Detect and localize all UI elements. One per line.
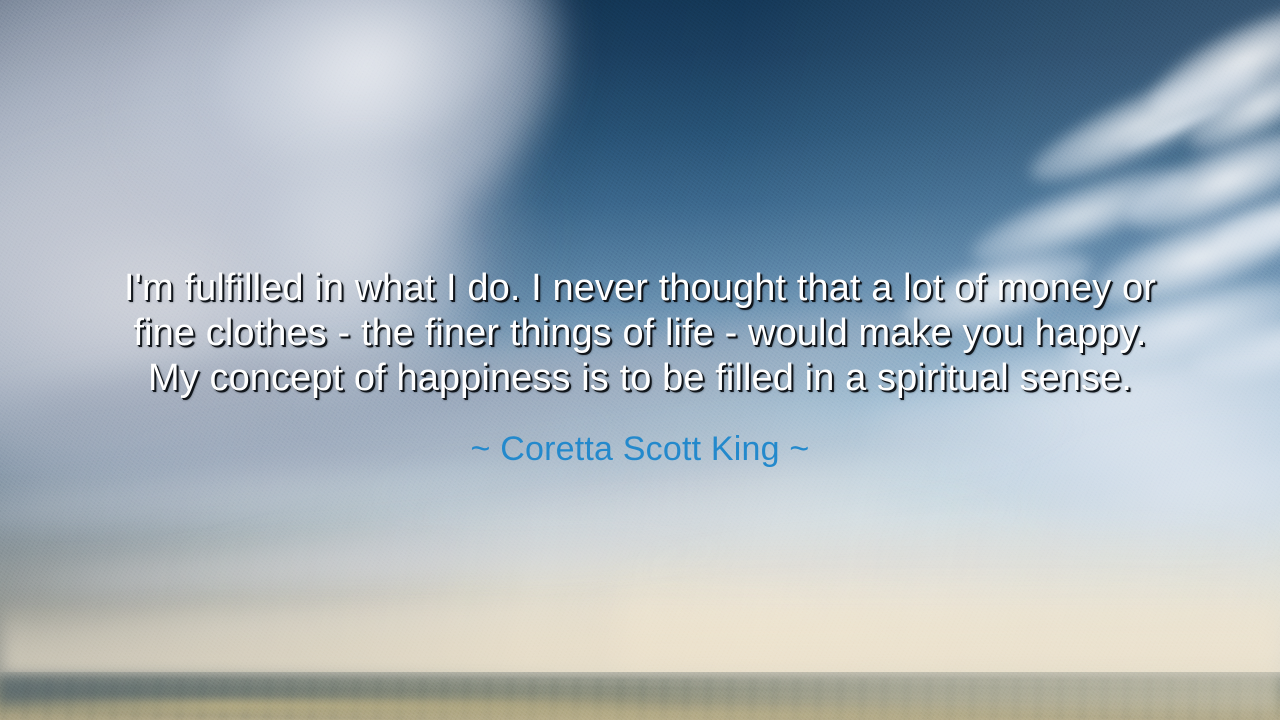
quote-attribution: ~ Coretta Scott King ~ [471,429,810,469]
quote-text: I'm fulfilled in what I do. I never thou… [111,266,1169,401]
quote-text-layer: I'm fulfilled in what I do. I never thou… [0,0,1280,720]
quote-image-canvas: I'm fulfilled in what I do. I never thou… [0,0,1280,720]
